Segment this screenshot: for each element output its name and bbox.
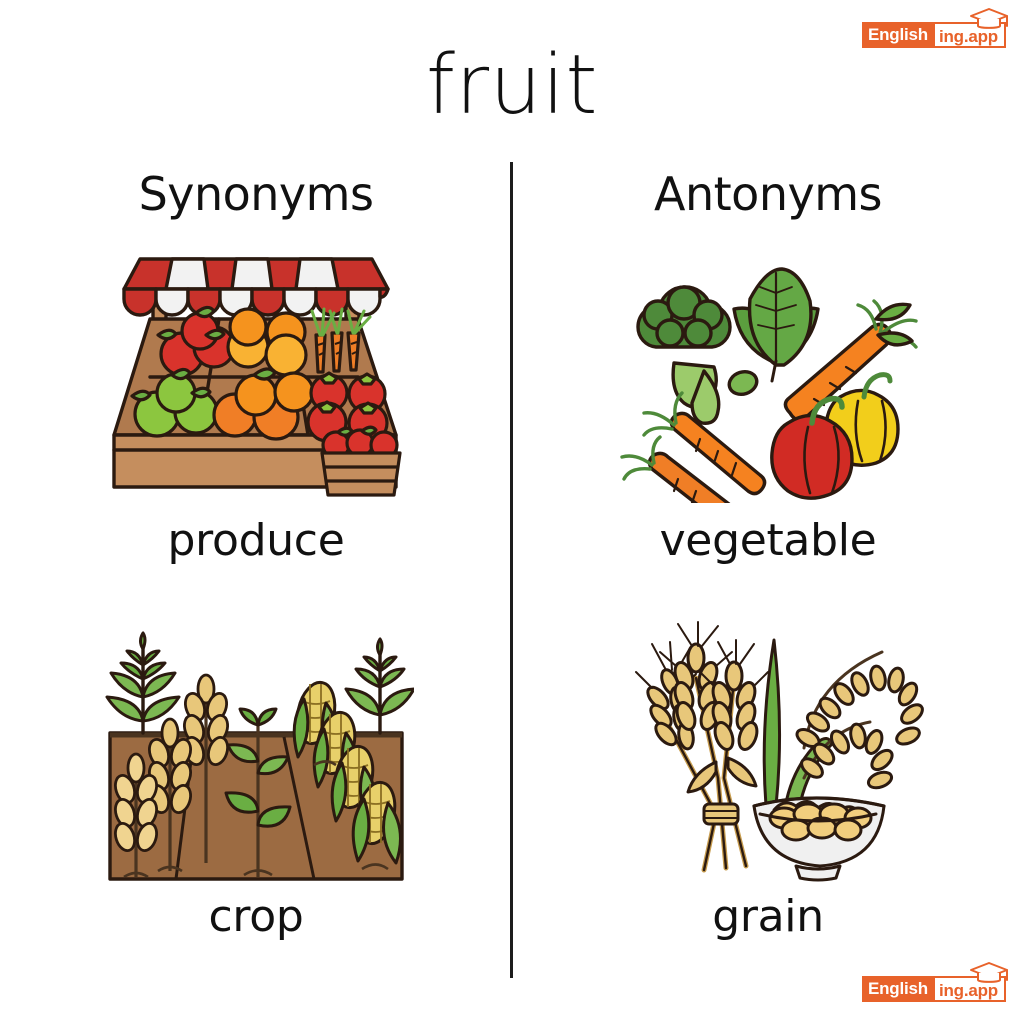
graduation-cap-icon bbox=[968, 961, 1010, 985]
brand-logo-box-bottom: English ing.app bbox=[862, 976, 1006, 1002]
produce-illustration bbox=[96, 243, 416, 513]
antonyms-column: Antonyms bbox=[512, 155, 1024, 995]
brand-logo-bottom[interactable]: English ing.app bbox=[862, 976, 1006, 1002]
caption-grain: grain bbox=[712, 891, 824, 942]
caption-produce: produce bbox=[168, 515, 345, 566]
caption-vegetable: vegetable bbox=[660, 515, 877, 566]
grain-icon bbox=[608, 618, 928, 890]
crop-illustration bbox=[98, 619, 414, 889]
crop-field-icon bbox=[98, 621, 414, 887]
antonyms-heading: Antonyms bbox=[654, 167, 882, 221]
entry-grain[interactable]: grain bbox=[512, 619, 1024, 995]
vegetable-illustration bbox=[608, 243, 928, 513]
synonyms-column: Synonyms bbox=[0, 155, 512, 995]
page-title: fruit bbox=[0, 38, 1024, 133]
graduation-cap-icon bbox=[968, 7, 1010, 31]
produce-stand-icon bbox=[96, 247, 416, 509]
brand-left-text: English bbox=[862, 976, 933, 1002]
grain-illustration bbox=[608, 619, 928, 889]
vegetables-icon bbox=[608, 253, 928, 503]
caption-crop: crop bbox=[209, 891, 304, 942]
synonyms-heading: Synonyms bbox=[139, 167, 374, 221]
entry-produce[interactable]: produce bbox=[0, 243, 512, 619]
content-columns: Synonyms bbox=[0, 155, 1024, 995]
entry-crop[interactable]: crop bbox=[0, 619, 512, 995]
entry-vegetable[interactable]: vegetable bbox=[512, 243, 1024, 619]
